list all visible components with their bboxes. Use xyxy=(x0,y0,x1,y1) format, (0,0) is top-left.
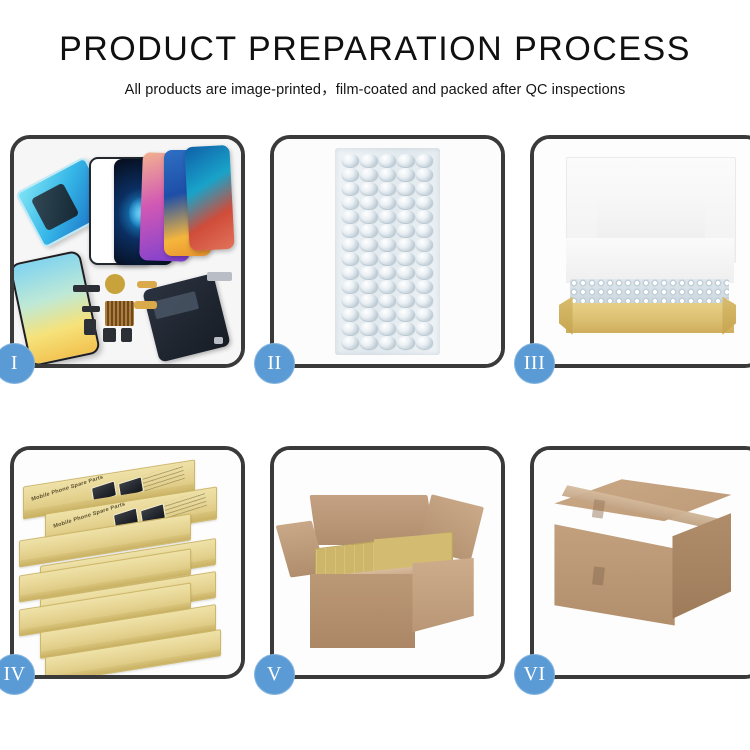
page-subtitle: All products are image-printed，film-coat… xyxy=(0,78,750,99)
steps-grid: I xyxy=(10,135,740,680)
phone-screen-red xyxy=(184,145,235,251)
step-badge-2: II xyxy=(254,343,295,384)
spare-part-screw xyxy=(214,337,223,344)
step-image-2 xyxy=(274,139,501,364)
carton-seam-upper xyxy=(592,499,606,518)
sealed-carton-side xyxy=(672,513,731,619)
step-image-4: Mobile Phone Spare Parts Mobile Phone Sp… xyxy=(14,450,241,675)
step-image-3 xyxy=(534,139,750,364)
spare-part-gold-disc xyxy=(105,274,125,294)
step-card-1: I xyxy=(10,135,245,368)
step-card-3: III xyxy=(530,135,750,368)
step-card-5: V xyxy=(270,446,505,679)
spare-part-flex-cable-2 xyxy=(134,301,157,309)
stacked-boxes-photo: Mobile Phone Spare Parts Mobile Phone Sp… xyxy=(14,450,241,675)
step-image-5 xyxy=(274,450,501,675)
spare-part-flex-cable xyxy=(137,281,157,288)
header: PRODUCT PREPARATION PROCESS All products… xyxy=(0,0,750,99)
wrapped-product-inside xyxy=(570,279,729,306)
step-badge-4: IV xyxy=(0,654,35,695)
bubble-wrap-photo xyxy=(274,139,501,364)
sealed-carton-photo xyxy=(534,450,750,675)
step-badge-5: V xyxy=(254,654,295,695)
product-preparation-infographic: PRODUCT PREPARATION PROCESS All products… xyxy=(0,0,750,750)
step-badge-3: III xyxy=(514,343,555,384)
spare-part-connector xyxy=(84,319,95,335)
foam-padding xyxy=(566,238,734,283)
carton-side-panel xyxy=(412,558,473,632)
phone-parts-photo xyxy=(14,139,241,364)
bubble-grid xyxy=(342,154,434,349)
spare-part-chip-grid xyxy=(105,301,135,326)
spare-part-bracket xyxy=(82,306,100,313)
open-carton-photo xyxy=(274,450,501,675)
step-card-6: VI xyxy=(530,446,750,679)
carton-front-panel xyxy=(310,574,414,648)
mailer-front-panel xyxy=(566,303,734,332)
spare-part-speaker xyxy=(121,328,132,342)
mailer-box-photo xyxy=(534,139,750,364)
step-card-2: II xyxy=(270,135,505,368)
step-card-4: Mobile Phone Spare Parts Mobile Phone Sp… xyxy=(10,446,245,679)
spare-part-metal-shield xyxy=(207,272,232,281)
spare-part-strip xyxy=(73,285,100,292)
page-title: PRODUCT PREPARATION PROCESS xyxy=(0,32,750,68)
sealed-carton-front xyxy=(554,524,674,625)
carton-seam-lower xyxy=(592,566,605,585)
step-image-1 xyxy=(14,139,241,364)
box-stack: Mobile Phone Spare Parts Mobile Phone Sp… xyxy=(19,473,237,667)
step-badge-1: I xyxy=(0,343,35,384)
bubble-wrap-pouch xyxy=(335,148,439,355)
step-image-6 xyxy=(534,450,750,675)
step-badge-6: VI xyxy=(514,654,555,695)
spare-part-camera xyxy=(103,328,117,342)
